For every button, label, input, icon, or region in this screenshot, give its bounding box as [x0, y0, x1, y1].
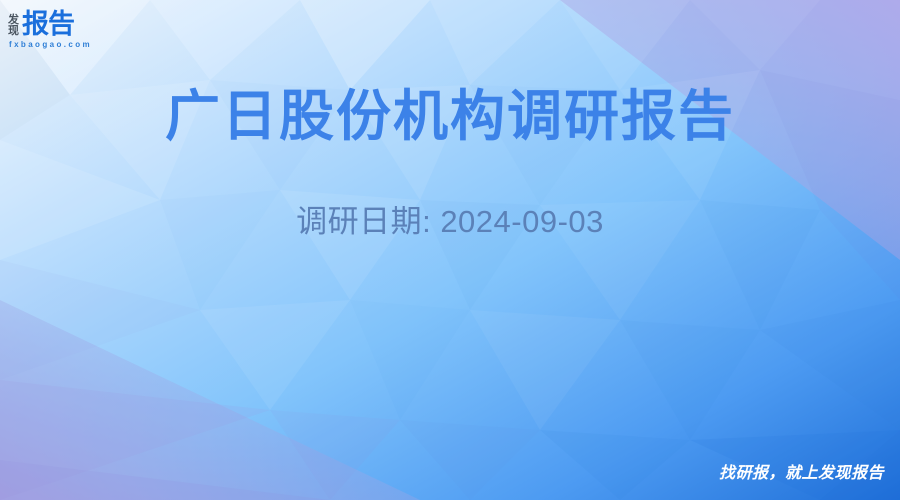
logo-wordmark-row: 发 现 报告: [8, 8, 138, 38]
logo-char-xian: 现: [8, 26, 19, 37]
logo-website-url: fxbaogao.com: [9, 40, 138, 49]
brand-tagline: 找研报，就上发现报告: [719, 459, 884, 483]
brand-logo[interactable]: 发 现 报告 fxbaogao.com: [8, 8, 138, 54]
low-poly-background: [0, 0, 900, 500]
cover-title-block: 广日股份机构调研报告 调研日期: 2024-09-03: [0, 86, 900, 241]
survey-date-subtitle: 调研日期: 2024-09-03: [0, 148, 900, 241]
page-title: 广日股份机构调研报告: [0, 86, 900, 148]
report-cover: 发 现 报告 fxbaogao.com 广日股份机构调研报告 调研日期: 202…: [0, 0, 900, 500]
logo-stacked-chars: 发 现: [8, 15, 19, 38]
logo-wordmark: 报告: [22, 11, 74, 38]
